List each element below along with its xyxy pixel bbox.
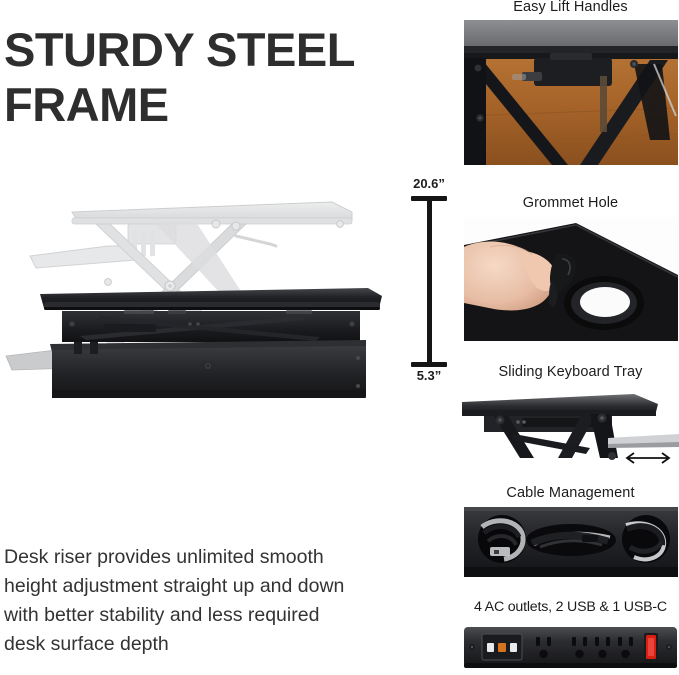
feature-panel-easy-lift-handles: Easy Lift Handles [462,0,679,165]
feature-title-easy-lift-handles: Easy Lift Handles [462,0,679,16]
feature-panel-sliding-keyboard-tray: Sliding Keyboard Tray [462,363,679,466]
photo-sliding-keyboard-tray [462,386,679,466]
usb-a-port-2 [510,643,517,652]
photo-grommet-hole [464,217,678,341]
feature-title-grommet-hole: Grommet Hole [462,194,679,212]
product-side-view-illustration [0,190,398,442]
photo-power-strip [462,623,679,673]
headline-line-2: Frame [4,77,424,132]
photo-cable-management [464,507,678,577]
description-line-4: desk surface depth [4,630,396,659]
description-line-1: Desk riser provides unlimited smooth [4,543,396,572]
headline-line-1: Sturdy Steel [4,22,424,77]
page-title: Sturdy Steel Frame [4,22,424,132]
solid-lowered-position [6,288,382,398]
description-text: Desk riser provides unlimited smooth hei… [4,543,396,659]
height-range-indicator: 20.6” 5.3” [398,176,460,388]
min-height-label: 5.3” [398,368,460,383]
dimension-cap-bottom [411,362,447,367]
feature-title-cable-management: Cable Management [462,484,679,502]
photo-easy-lift-handles [464,20,678,165]
product-infographic: Sturdy Steel Frame [0,0,679,675]
dimension-line [427,198,432,364]
feature-panel-cable-management: Cable Management [462,484,679,577]
feature-title-power-outlets: 4 AC outlets, 2 USB & 1 USB-C [462,598,679,616]
max-height-label: 20.6” [398,176,460,191]
feature-panel-power-outlets: 4 AC outlets, 2 USB & 1 USB-C [462,598,679,673]
feature-panel-rail: Easy Lift Handles [462,0,679,675]
description-line-3: with better stability and less required [4,601,396,630]
feature-title-sliding-keyboard-tray: Sliding Keyboard Tray [462,363,679,381]
riser-diagram [0,190,398,442]
usb-c-port [498,643,506,652]
feature-panel-grommet-hole: Grommet Hole [462,194,679,341]
description-line-2: height adjustment straight up and down [4,572,396,601]
usb-a-port-1 [487,643,494,652]
